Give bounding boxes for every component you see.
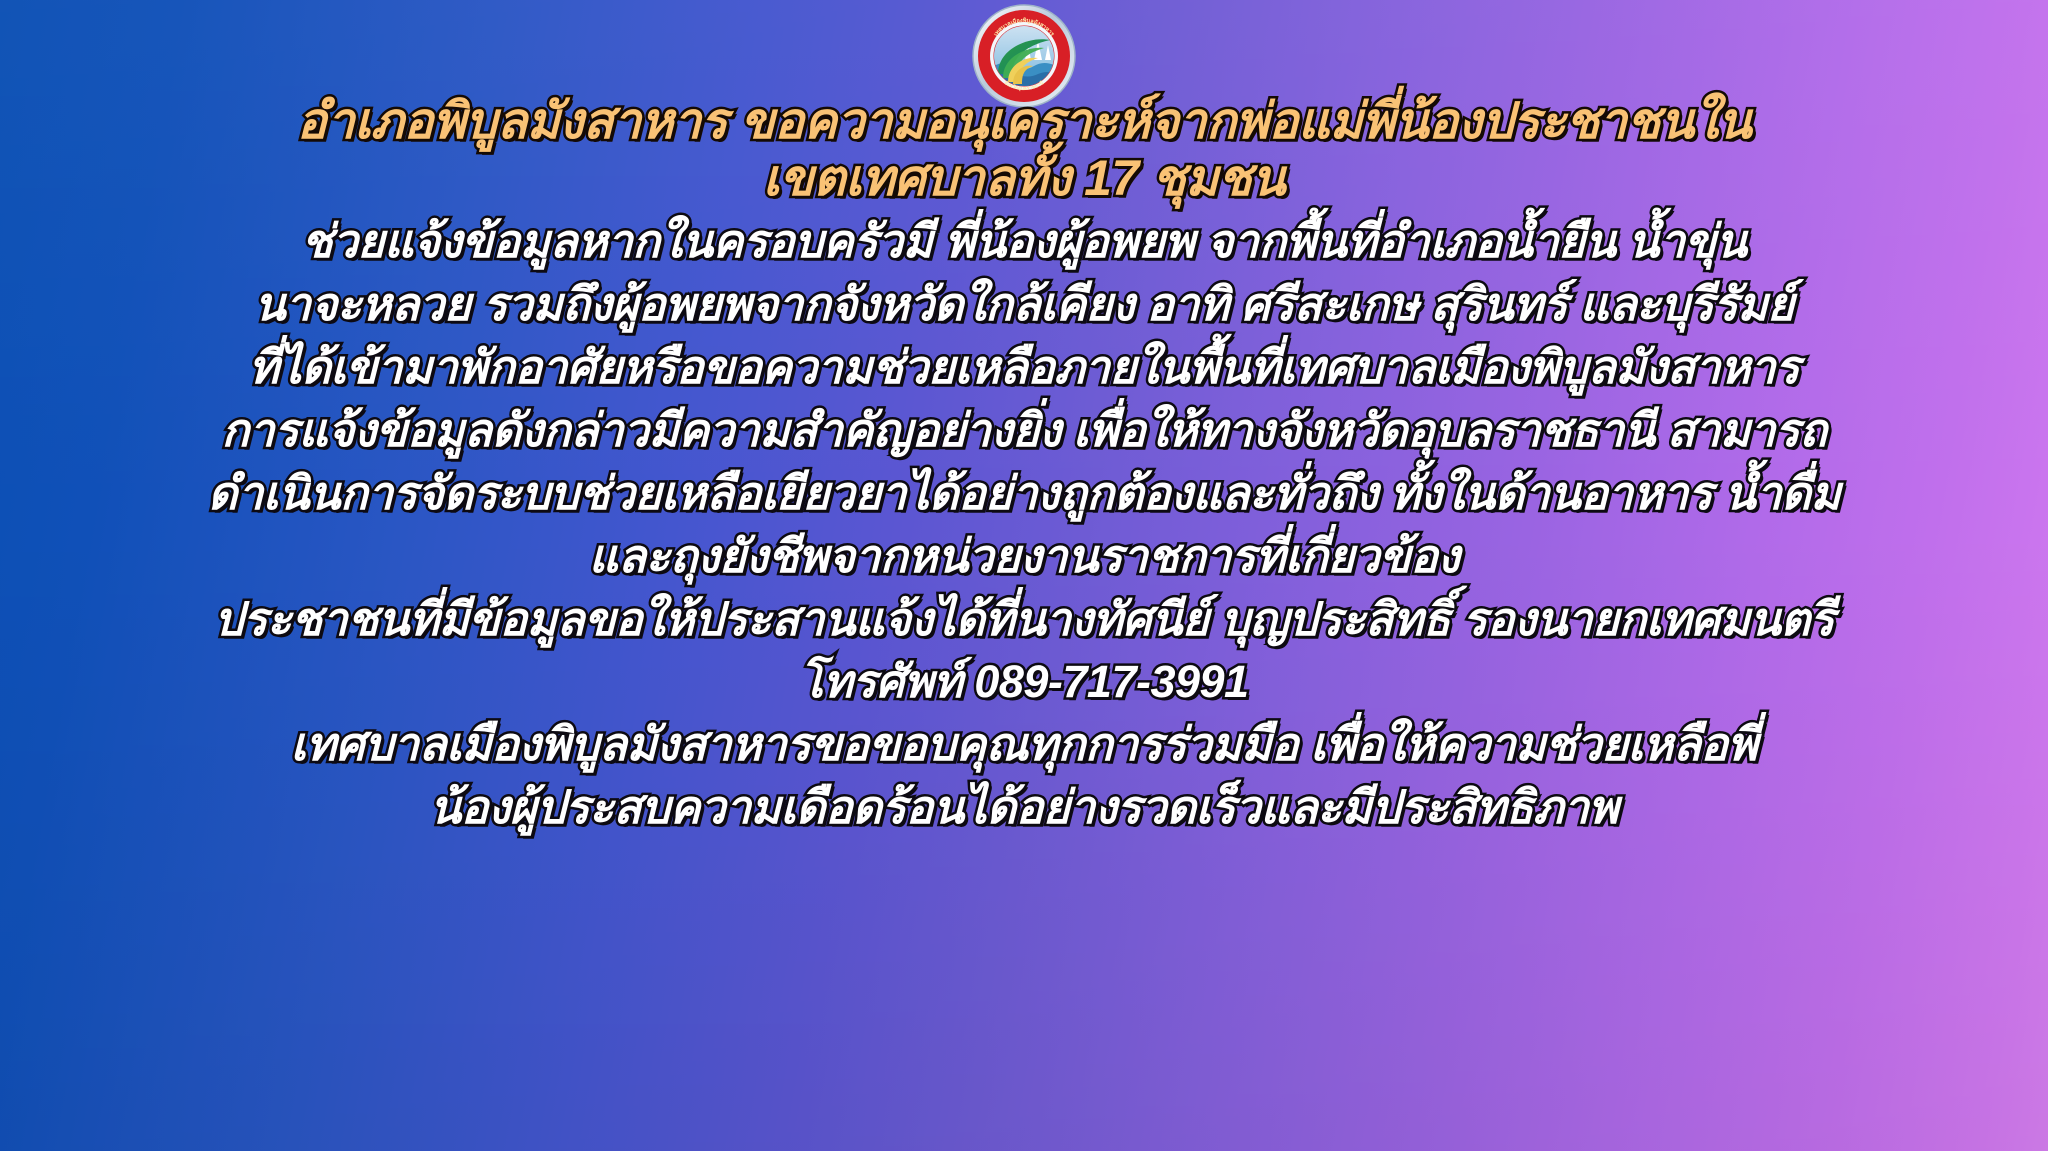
body-line-4: การแจ้งข้อมูลดังกล่าวมีความสำคัญอย่างยิ่… <box>24 407 2024 453</box>
body-line-2: นาจะหลวย รวมถึงผู้อพยพจากจังหวัดใกล้เคีย… <box>24 281 2024 327</box>
closing-line-1: เทศบาลเมืองพิบูลมังสาหารขอขอบคุณทุกการร่… <box>24 721 2024 767</box>
body-line-3: ที่ได้เข้ามาพักอาศัยหรือขอความช่วยเหลือภ… <box>24 344 2024 390</box>
body-line-1: ช่วยแจ้งข้อมูลหากในครอบครัวมี พี่น้องผู้… <box>24 218 2024 264</box>
headline-line-2: เขตเทศบาลทั้ง 17 ชุมชน <box>24 153 2024 204</box>
body-line-6: และถุงยังชีพจากหน่วยงานราชการที่เกี่ยวข้… <box>24 533 2024 579</box>
announcement-poster: เทศบาลเมืองพิบูลมังสาหาร จังหวัดอุบลราชธ… <box>0 0 2048 1151</box>
contact-line: ประชาชนที่มีข้อมูลขอให้ประสานแจ้งได้ที่น… <box>24 596 2024 642</box>
poster-text-content: อำเภอพิบูลมังสาหาร ขอความอนุเคราะห์จากพ่… <box>0 96 2048 830</box>
closing-line-2: น้องผู้ประสบความเดือดร้อนได้อย่างรวดเร็ว… <box>24 784 2024 830</box>
phone-line: โทรศัพท์ 089-717-3991 <box>24 659 2024 704</box>
body-line-5: ดำเนินการจัดระบบช่วยเหลือเยียวยาได้อย่าง… <box>24 470 2024 516</box>
headline-line-1: อำเภอพิบูลมังสาหาร ขอความอนุเคราะห์จากพ่… <box>24 96 2024 147</box>
